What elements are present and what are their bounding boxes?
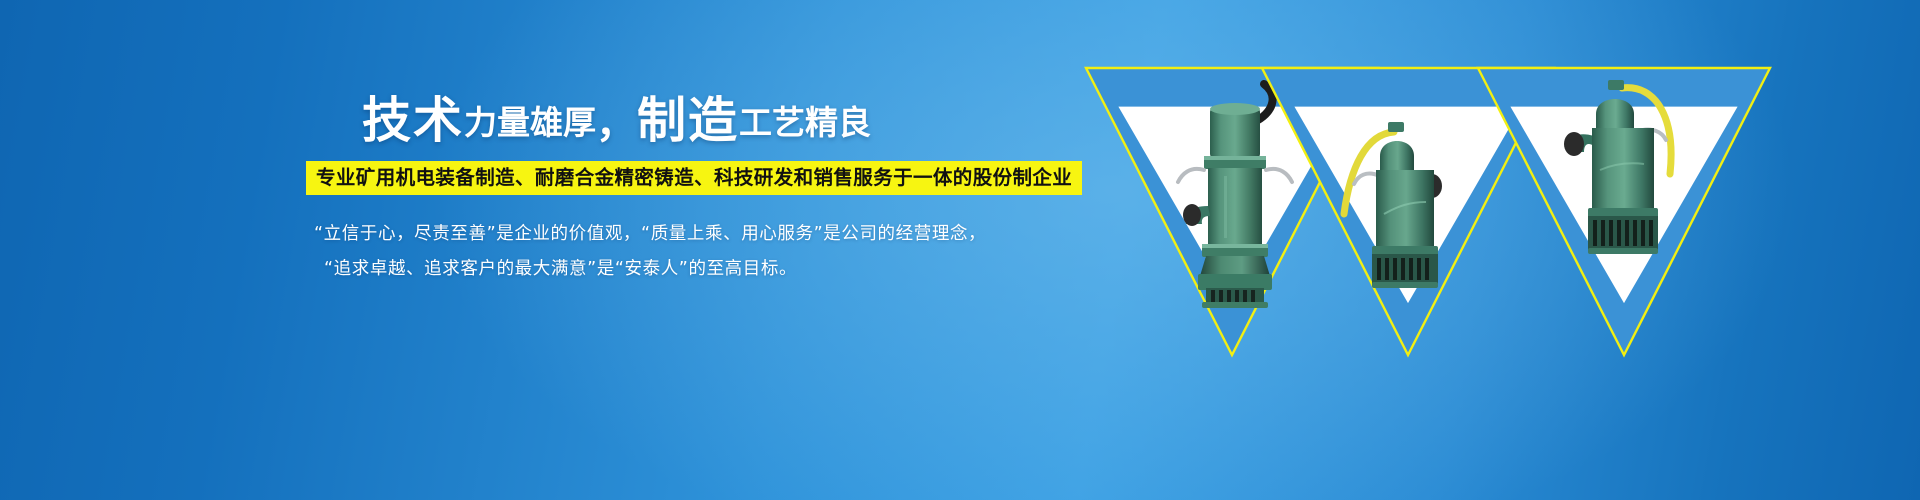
sub-banner-highlight: 专业矿用机电装备制造、耐磨合金精密铸造、科技研发和销售服务于一体的股份制企业 [306, 161, 1082, 195]
product-gallery [1072, 52, 1802, 372]
headline-part-1: 技术 [362, 92, 464, 149]
headline-comma: ， [596, 102, 637, 146]
headline-part-3: 制造 [637, 92, 739, 149]
submersible-pump-medium-icon [1544, 70, 1696, 270]
product-tile-3 [1464, 52, 1784, 364]
submersible-pump-small-icon [1336, 110, 1476, 294]
headline: 技术力量雄厚，制造工艺精良 [300, 96, 920, 145]
text-block: 技术力量雄厚，制造工艺精良 专业矿用机电装备制造、耐磨合金精密铸造、科技研发和销… [300, 96, 920, 287]
body-copy-line-1: “立信于心，尽责至善”是企业的价值观，“质量上乘、用心服务”是公司的经营理念， [314, 217, 920, 252]
promo-banner: 技术力量雄厚，制造工艺精良 专业矿用机电装备制造、耐磨合金精密铸造、科技研发和销… [0, 0, 1920, 500]
headline-part-4: 工艺精良 [739, 103, 871, 142]
body-copy-line-2: “追求卓越、追求客户的最大满意”是“安泰人”的至高目标。 [324, 252, 920, 287]
headline-part-2: 力量雄厚 [464, 103, 596, 142]
body-copy: “立信于心，尽责至善”是企业的价值观，“质量上乘、用心服务”是公司的经营理念， … [314, 217, 920, 287]
